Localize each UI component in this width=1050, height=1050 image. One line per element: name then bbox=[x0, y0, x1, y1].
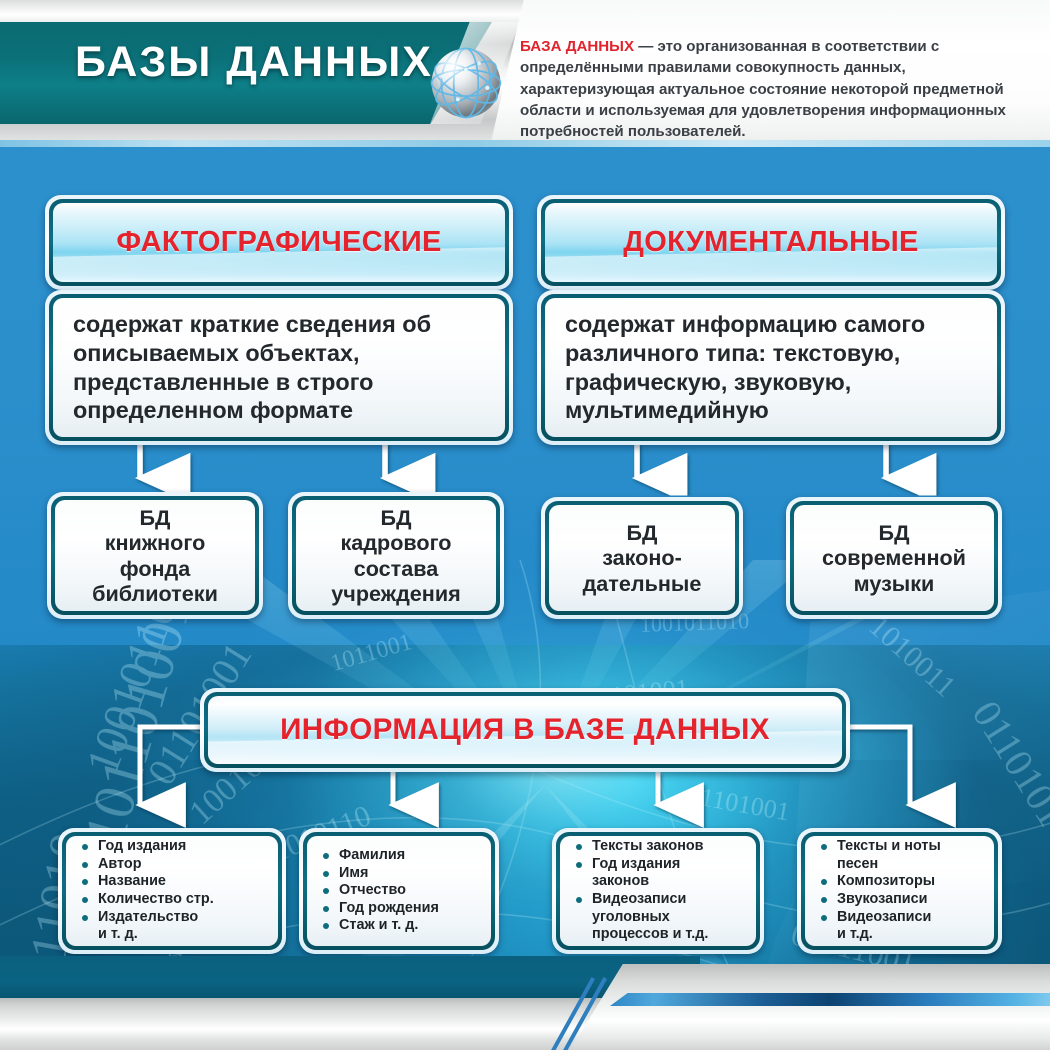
category-title: ФАКТОГРАФИЧЕСКИЕ bbox=[116, 226, 441, 259]
info-list: ФамилияИмяОтчествоГод рожденияСтаж и т. … bbox=[317, 847, 439, 935]
database-label: БДзаконо-дательные bbox=[583, 520, 702, 596]
database-label: БДсовременноймузыки bbox=[822, 520, 966, 596]
definition-term: БАЗА ДАННЫХ bbox=[520, 38, 634, 55]
poster-canvas: 0101101001 10010110 01101001 011010 1001… bbox=[0, 0, 1050, 1050]
list-item: Видеозаписи bbox=[570, 891, 708, 909]
list-item: Имя bbox=[317, 865, 439, 883]
list-item: песен bbox=[815, 856, 941, 874]
info-banner: ИНФОРМАЦИЯ В БАЗЕ ДАННЫХ bbox=[200, 688, 850, 772]
list-item: Фамилия bbox=[317, 847, 439, 865]
database-label-line: музыки bbox=[822, 571, 966, 596]
category-body-documentary: содержат информацию самого различного ти… bbox=[537, 290, 1005, 445]
list-item: Композиторы bbox=[815, 873, 941, 891]
database-label-line: кадрового bbox=[331, 530, 460, 555]
category-title: ДОКУМЕНТАЛЬНЫЕ bbox=[623, 226, 918, 259]
list-item: законов bbox=[570, 873, 708, 891]
list-item: уголовных bbox=[570, 909, 708, 927]
list-item: и т.д. bbox=[815, 926, 941, 944]
footer-right-wedge bbox=[570, 964, 1050, 1050]
list-item: Тексты законов bbox=[570, 838, 708, 856]
info-list-laws: Тексты законовГод изданиязаконовВидеозап… bbox=[552, 828, 764, 954]
database-label-line: фонда bbox=[92, 556, 218, 581]
page-title: БАЗЫ ДАННЫХ bbox=[75, 38, 433, 87]
database-label: БДкнижногофондабиблиотеки bbox=[92, 505, 218, 607]
header-bottom-highlight bbox=[0, 140, 1050, 147]
database-label-line: дательные bbox=[583, 571, 702, 596]
database-box-library: БДкнижногофондабиблиотеки bbox=[47, 492, 263, 619]
list-item: Стаж и т. д. bbox=[317, 917, 439, 935]
database-label-line: современной bbox=[822, 545, 966, 570]
database-label-line: БД bbox=[583, 520, 702, 545]
category-header-factographic: ФАКТОГРАФИЧЕСКИЕ bbox=[45, 195, 513, 290]
poster-header: БАЗЫ ДАННЫХ bbox=[0, 0, 1050, 146]
list-item: Год издания bbox=[570, 856, 708, 874]
list-item: Издательство bbox=[76, 909, 214, 927]
database-box-personnel: БДкадровогосоставаучреждения bbox=[288, 492, 504, 619]
list-item: процессов и т.д. bbox=[570, 926, 708, 944]
info-list: Тексты законовГод изданиязаконовВидеозап… bbox=[570, 838, 708, 944]
info-list-books: Год изданияАвторНазваниеКоличество стр.И… bbox=[58, 828, 286, 954]
list-item: Количество стр. bbox=[76, 891, 214, 909]
list-item: Год издания bbox=[76, 838, 214, 856]
list-item: Тексты и ноты bbox=[815, 838, 941, 856]
database-label-line: БД bbox=[822, 520, 966, 545]
info-list-personnel: ФамилияИмяОтчествоГод рожденияСтаж и т. … bbox=[299, 828, 499, 954]
database-definition: БАЗА ДАННЫХ — это организованная в соотв… bbox=[520, 36, 1030, 142]
database-box-music: БДсовременноймузыки bbox=[786, 497, 1002, 619]
database-label: БДкадровогосоставаучреждения bbox=[331, 505, 460, 607]
database-label-line: состава bbox=[331, 556, 460, 581]
category-description: содержат краткие сведения об описываемых… bbox=[73, 310, 491, 424]
database-label-line: БД bbox=[92, 505, 218, 530]
list-item: Год рождения bbox=[317, 900, 439, 918]
database-label-line: законо- bbox=[583, 545, 702, 570]
info-banner-title: ИНФОРМАЦИЯ В БАЗЕ ДАННЫХ bbox=[280, 713, 770, 747]
list-item: Отчество bbox=[317, 882, 439, 900]
database-box-legislative: БДзаконо-дательные bbox=[541, 497, 743, 619]
category-header-documentary: ДОКУМЕНТАЛЬНЫЕ bbox=[537, 195, 1005, 290]
list-item: Название bbox=[76, 873, 214, 891]
info-list: Год изданияАвторНазваниеКоличество стр.И… bbox=[76, 838, 214, 944]
info-list-music: Тексты и нотыпесенКомпозиторыЗвукозаписи… bbox=[797, 828, 1002, 954]
list-item: Автор bbox=[76, 856, 214, 874]
database-label-line: книжного bbox=[92, 530, 218, 555]
footer-blue-stripe bbox=[610, 993, 1050, 1006]
database-label-line: учреждения bbox=[331, 581, 460, 606]
globe-network-icon bbox=[425, 42, 507, 124]
footer-diagonal-stripes bbox=[550, 962, 630, 1050]
database-label-line: БД bbox=[331, 505, 460, 530]
category-body-factographic: содержат краткие сведения об описываемых… bbox=[45, 290, 513, 445]
database-label-line: библиотеки bbox=[92, 581, 218, 606]
list-item: и т. д. bbox=[76, 926, 214, 944]
info-list: Тексты и нотыпесенКомпозиторыЗвукозаписи… bbox=[815, 838, 941, 944]
category-description: содержат информацию самого различного ти… bbox=[565, 310, 983, 424]
list-item: Видеозаписи bbox=[815, 909, 941, 927]
list-item: Звукозаписи bbox=[815, 891, 941, 909]
